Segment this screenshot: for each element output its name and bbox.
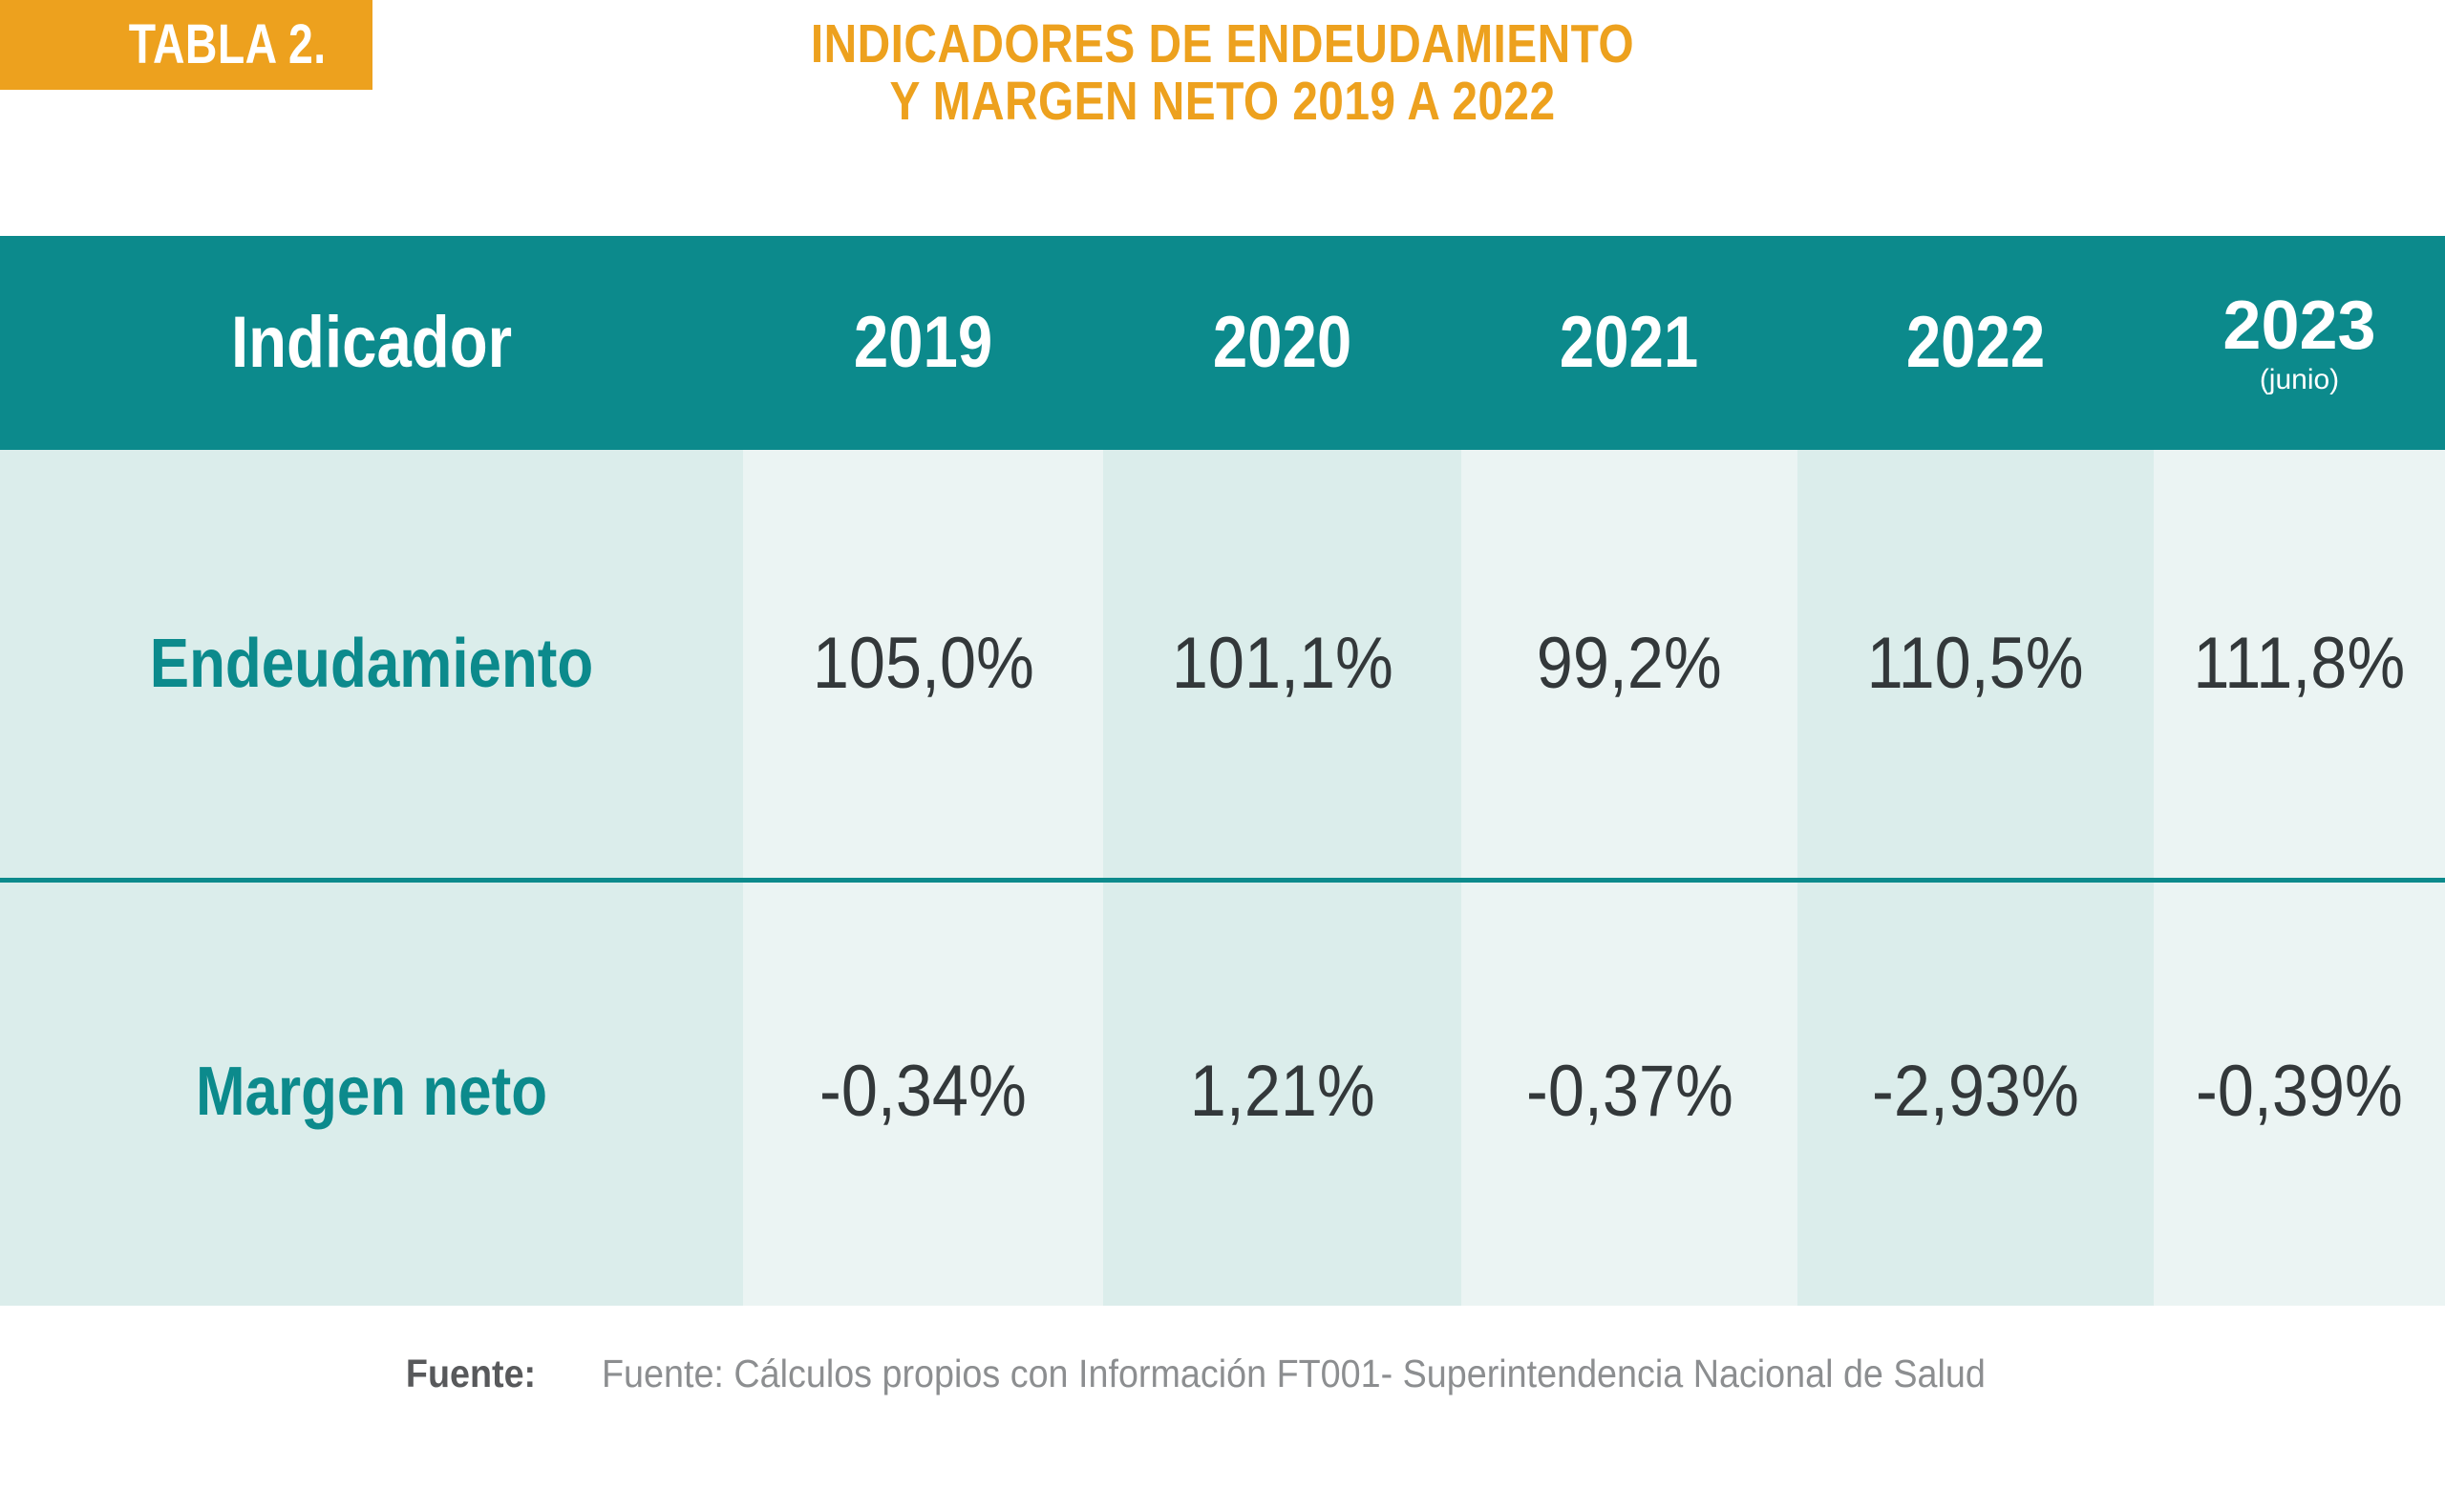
table-row: Endeudamiento 105,0% 101,1% 99,2% 110,5%…	[0, 450, 2445, 878]
cell-value: -0,34%	[819, 1055, 1027, 1128]
column-header-sublabel: (junio)	[2260, 366, 2339, 394]
column-header-indicador: Indicador	[0, 236, 743, 450]
row-label-margen-neto: Margen neto	[0, 878, 743, 1306]
cell-margen-neto-2020: 1,21%	[1103, 878, 1461, 1306]
cell-endeudamiento-2023: 111,8%	[2154, 450, 2445, 878]
page-title: INDICADORES DE ENDEUDAMIENTO Y MARGEN NE…	[411, 15, 2034, 130]
table-header-row: Indicador 2019 2020 2021 2022 2023 (juni…	[0, 236, 2445, 450]
row-divider	[0, 878, 2445, 883]
cell-margen-neto-2023: -0,39%	[2154, 878, 2445, 1306]
cell-value: 105,0%	[812, 628, 1033, 700]
cell-value: 99,2%	[1537, 628, 1722, 700]
title-line-1: INDICADORES DE ENDEUDAMIENTO	[541, 15, 1904, 73]
table-number-badge: TABLA 2.	[0, 0, 372, 90]
column-header-2021: 2021	[1461, 236, 1797, 450]
cell-value: 111,8%	[2194, 628, 2406, 700]
data-table: Indicador 2019 2020 2021 2022 2023 (juni…	[0, 236, 2445, 1306]
cell-value: 110,5%	[1867, 628, 2084, 700]
source-note: Fuente: Fuente: Cálculos propios con Inf…	[0, 1352, 2445, 1396]
row-label-endeudamiento: Endeudamiento	[0, 450, 743, 878]
column-header-2019: 2019	[743, 236, 1103, 450]
cell-margen-neto-2019: -0,34%	[743, 878, 1103, 1306]
column-header-label: 2019	[854, 307, 992, 379]
header-area: TABLA 2. INDICADORES DE ENDEUDAMIENTO Y …	[0, 0, 2445, 236]
column-header-2023: 2023 (junio)	[2154, 236, 2445, 450]
column-header-label: 2023	[2222, 291, 2375, 360]
row-label-text: Margen neto	[196, 1057, 547, 1126]
source-text: Fuente: Cálculos propios con Información…	[602, 1352, 1986, 1396]
column-header-label: 2022	[1906, 307, 2045, 379]
cell-value: -2,93%	[1872, 1055, 2079, 1128]
cell-endeudamiento-2022: 110,5%	[1797, 450, 2154, 878]
cell-margen-neto-2021: -0,37%	[1461, 878, 1797, 1306]
source-label: Fuente:	[405, 1352, 535, 1396]
title-line-2: Y MARGEN NETO 2019 A 2022	[541, 73, 1904, 130]
cell-endeudamiento-2021: 99,2%	[1461, 450, 1797, 878]
cell-margen-neto-2022: -2,93%	[1797, 878, 2154, 1306]
column-header-2020: 2020	[1103, 236, 1461, 450]
column-header-2022: 2022	[1797, 236, 2154, 450]
row-label-text: Endeudamiento	[150, 629, 593, 698]
table-number-label: TABLA 2.	[129, 17, 327, 73]
cell-value: -0,37%	[1526, 1055, 1733, 1128]
cell-endeudamiento-2019: 105,0%	[743, 450, 1103, 878]
column-header-label: Indicador	[231, 307, 512, 379]
table-row: Margen neto -0,34% 1,21% -0,37% -2,93% -…	[0, 878, 2445, 1306]
cell-value: 1,21%	[1190, 1055, 1375, 1128]
column-header-label: 2021	[1560, 307, 1698, 379]
table-body: Endeudamiento 105,0% 101,1% 99,2% 110,5%…	[0, 450, 2445, 1306]
column-header-label: 2020	[1213, 307, 1351, 379]
cell-endeudamiento-2020: 101,1%	[1103, 450, 1461, 878]
cell-value: -0,39%	[2196, 1055, 2403, 1128]
cell-value: 101,1%	[1171, 628, 1393, 700]
